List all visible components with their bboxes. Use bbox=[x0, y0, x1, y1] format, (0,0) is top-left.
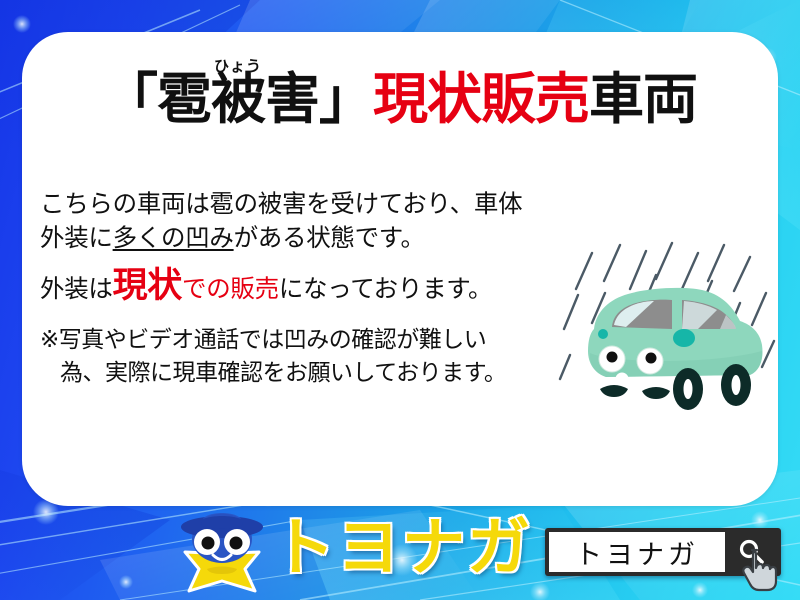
paragraph-3-note: ※写真やビデオ通話では凹みの確認が難しい 為、実際に現車確認をお願いしております… bbox=[40, 324, 540, 389]
paragraph-3-line-1: ※写真やビデオ通話では凹みの確認が難しい bbox=[40, 327, 486, 353]
hail-damaged-car-illustration bbox=[550, 237, 778, 422]
content-card: ひょう 「雹被害」 現状販売車両 こちらの車両は雹の被害を受けており、車体 外装… bbox=[22, 32, 778, 506]
paragraph-2-prefix: 外装は bbox=[40, 274, 113, 303]
title-segment-hail: 「雹被害」 bbox=[103, 67, 373, 131]
paragraph-2-suffix: になっております。 bbox=[279, 274, 492, 303]
brand-wordmark: トヨナガ bbox=[272, 516, 532, 579]
poster-stage: ひょう 「雹被害」 現状販売車両 こちらの車両は雹の被害を受けており、車体 外装… bbox=[0, 0, 800, 600]
paragraph-3-line-2: 為、実際に現車確認をお願いしております。 bbox=[40, 357, 540, 390]
paragraph-2: 外装は現状での販売になっております。 bbox=[40, 269, 540, 306]
toyonaga-star-mascot bbox=[163, 505, 281, 600]
car-body-group bbox=[588, 288, 763, 410]
paragraph-1-line-2-prefix: 外装に bbox=[40, 223, 113, 252]
title-ruby-group: ひょう 「雹被害」 bbox=[103, 62, 373, 137]
paragraph-1: こちらの車両は雹の被害を受けており、車体 外装に多くの凹みがある状態です。 bbox=[40, 187, 540, 256]
search-button[interactable] bbox=[725, 532, 777, 572]
mid-foot bbox=[642, 387, 670, 399]
search-input[interactable]: トヨナガ bbox=[549, 532, 725, 572]
side-mirror bbox=[673, 329, 695, 347]
paragraph-2-emphasis-asis: 現状 bbox=[113, 266, 182, 306]
title-segment-asis-sale: 現状販売 bbox=[373, 67, 589, 131]
car-nose bbox=[616, 373, 629, 386]
hand-pointer-icon bbox=[739, 546, 779, 592]
title-segment-vehicle: 車両 bbox=[589, 67, 697, 131]
paragraph-1-underlined-phrase: 多くの凹み bbox=[113, 223, 234, 252]
paragraph-1-line-2-suffix: がある状態です。 bbox=[234, 223, 425, 252]
front-foot bbox=[600, 385, 628, 397]
page-title: ひょう 「雹被害」 現状販売車両 bbox=[22, 44, 778, 137]
front-marker-light bbox=[598, 329, 608, 339]
search-widget[interactable]: トヨナガ bbox=[545, 528, 781, 576]
body-copy: こちらの車両は雹の被害を受けており、車体 外装に多くの凹みがある状態です。 外装… bbox=[40, 187, 540, 393]
paragraph-1-line-1: こちらの車両は雹の被害を受けており、車体 bbox=[40, 189, 522, 218]
title-furigana: ひょう bbox=[214, 59, 262, 74]
paragraph-2-red-sale: での販売 bbox=[182, 274, 279, 303]
